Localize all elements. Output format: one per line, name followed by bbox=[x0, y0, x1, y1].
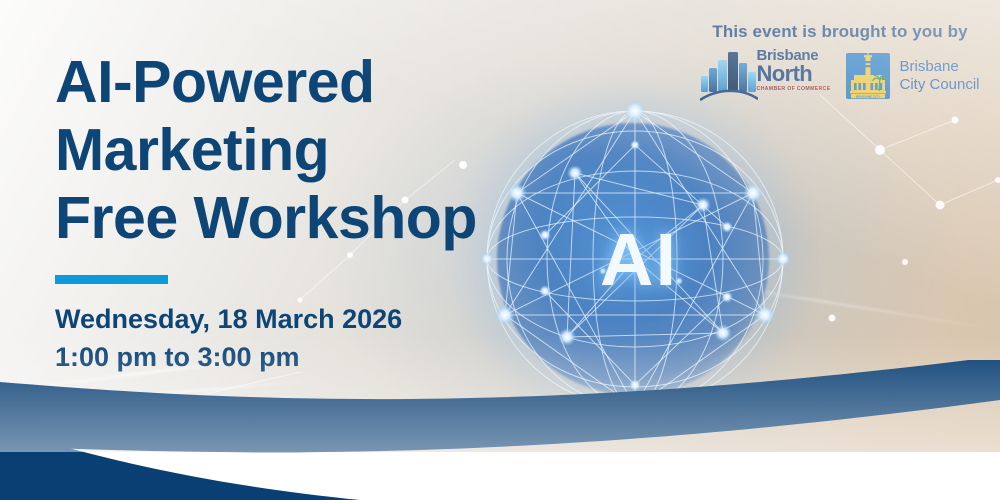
event-datetime: Wednesday, 18 March 2026 1:00 pm to 3:00… bbox=[55, 300, 402, 376]
brisbane-city-council-logo: BRISBANE CITY Brisbane City Council bbox=[846, 53, 979, 99]
bcc-line2: City Council bbox=[899, 76, 979, 94]
brisbane-north-chamber-logo: Brisbane North CHAMBER OF COMMERCE bbox=[700, 48, 832, 104]
skyline-icon bbox=[700, 50, 758, 102]
event-date: Wednesday, 18 March 2026 bbox=[55, 300, 402, 338]
bcc-mark-text: BRISBANE CITY bbox=[856, 94, 881, 98]
page-title: AI-Powered Marketing Free Workshop bbox=[55, 48, 525, 252]
accent-divider-bar bbox=[55, 275, 168, 284]
brisbane-north-wordmark: Brisbane North CHAMBER OF COMMERCE bbox=[756, 48, 834, 93]
sponsor-block: This event is brought to you by bbox=[690, 22, 990, 104]
bcc-line1: Brisbane bbox=[899, 58, 979, 76]
event-banner: AI AI-Powered Marketing Free Workshop We… bbox=[0, 0, 1000, 500]
bottom-blue-swoosh bbox=[0, 360, 1000, 500]
city-hall-icon: BRISBANE CITY bbox=[846, 53, 890, 99]
sponsor-logo-row: Brisbane North CHAMBER OF COMMERCE bbox=[690, 48, 990, 104]
headline-line-1: AI-Powered bbox=[55, 48, 525, 116]
sponsor-caption: This event is brought to you by bbox=[690, 22, 990, 42]
brisbane-north-tagline: CHAMBER OF COMMERCE bbox=[756, 86, 834, 93]
brisbane-north-line2: North bbox=[756, 63, 834, 85]
bcc-wordmark: Brisbane City Council bbox=[899, 58, 979, 94]
event-time: 1:00 pm to 3:00 pm bbox=[55, 338, 402, 376]
headline-line-2: Marketing bbox=[55, 116, 525, 184]
headline-line-3: Free Workshop bbox=[55, 184, 525, 252]
